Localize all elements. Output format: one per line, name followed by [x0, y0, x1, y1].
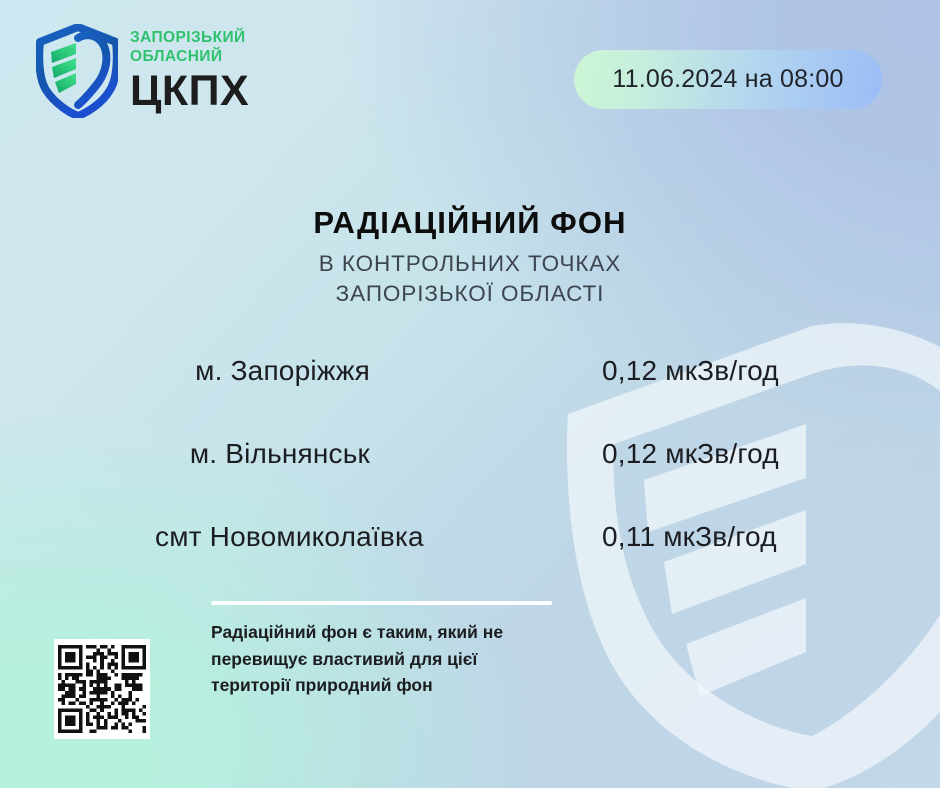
radiation-background-poster: ЗАПОРІЗЬКИЙ ОБЛАСНИЙ ЦКПХ 11.06.2024 на …: [0, 0, 940, 788]
measurement-place: м. Вільнянськ: [0, 438, 370, 470]
page-subtitle: В КОНТРОЛЬНИХ ТОЧКАХ ЗАПОРІЗЬКОЇ ОБЛАСТІ: [0, 249, 940, 309]
measurement-list: м. Запоріжжя 0,12 мкЗв/год м. Вільнянськ…: [0, 355, 940, 604]
logo-subtitle: ЗАПОРІЗЬКИЙ ОБЛАСНИЙ: [130, 29, 249, 67]
measurement-value: 0,11 мкЗв/год: [370, 521, 940, 553]
footnote-text: Радіаційний фон є таким, який не перевищ…: [211, 619, 571, 699]
measurement-place: смт Новомиколаївка: [0, 521, 370, 553]
measurement-row: м. Запоріжжя 0,12 мкЗв/год: [0, 355, 940, 438]
shield-logo-icon: [36, 24, 118, 118]
footnote-line2: перевищує властивий для цієї: [211, 649, 477, 669]
date-badge-text: 11.06.2024 на 08:00: [612, 65, 843, 94]
logo-abbreviation: ЦКПХ: [130, 70, 249, 113]
qr-code[interactable]: [54, 639, 150, 739]
brand-logo: ЗАПОРІЗЬКИЙ ОБЛАСНИЙ ЦКПХ: [36, 24, 249, 118]
measurement-row: смт Новомиколаївка 0,11 мкЗв/год: [0, 521, 940, 604]
logo-subtitle-line2: ОБЛАСНИЙ: [130, 48, 222, 65]
logo-subtitle-line1: ЗАПОРІЗЬКИЙ: [130, 29, 246, 46]
page-subtitle-line2: ЗАПОРІЗЬКОЇ ОБЛАСТІ: [336, 281, 605, 306]
footnote-divider: [211, 601, 552, 605]
measurement-place: м. Запоріжжя: [0, 355, 370, 387]
measurement-row: м. Вільнянськ 0,12 мкЗв/год: [0, 438, 940, 521]
page-subtitle-line1: В КОНТРОЛЬНИХ ТОЧКАХ: [319, 251, 621, 276]
footnote-line3: території природний фон: [211, 675, 433, 695]
footnote-line1: Радіаційний фон є таким, який не: [211, 622, 503, 642]
page-title-block: РАДІАЦІЙНИЙ ФОН В КОНТРОЛЬНИХ ТОЧКАХ ЗАП…: [0, 206, 940, 309]
measurement-value: 0,12 мкЗв/год: [370, 438, 940, 470]
measurement-value: 0,12 мкЗв/год: [370, 355, 940, 387]
page-title: РАДІАЦІЙНИЙ ФОН: [0, 206, 940, 240]
date-badge: 11.06.2024 на 08:00: [574, 50, 882, 109]
